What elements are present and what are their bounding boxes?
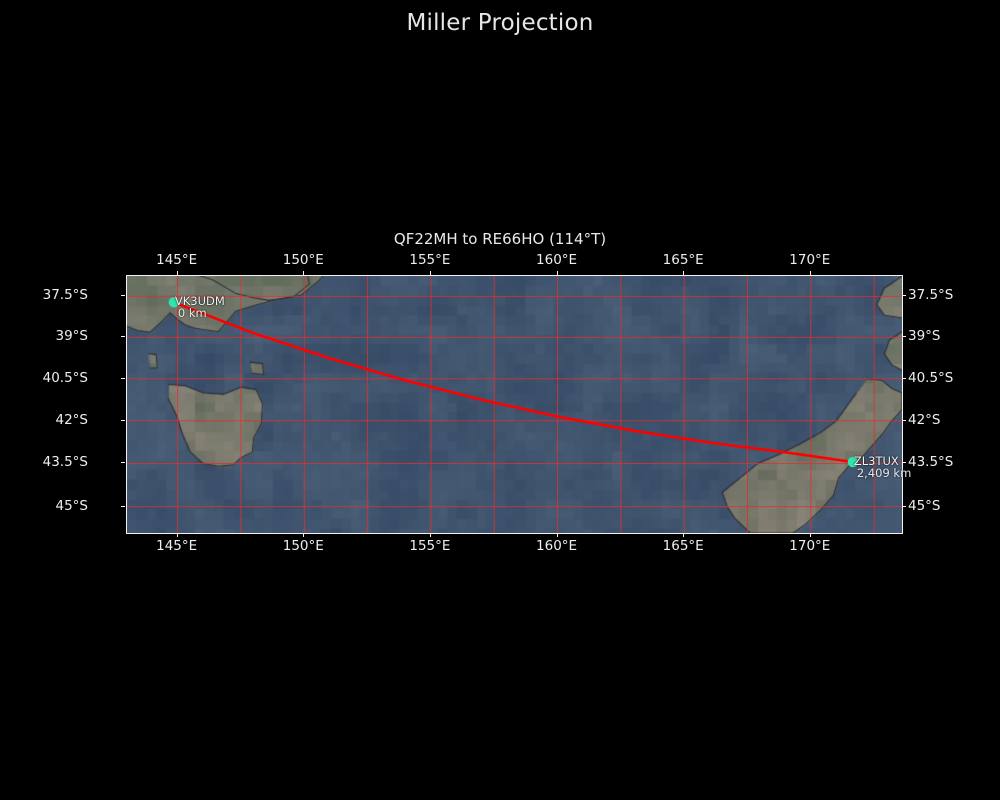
x-tick-mark-bottom [430, 533, 431, 537]
y-tick-label-left: 45°S [56, 498, 89, 514]
y-tick-mark-right [902, 506, 906, 507]
x-tick-mark-top [557, 271, 558, 275]
y-tick-label-right: 45°S [908, 498, 941, 514]
map-vector-overlay [127, 276, 902, 533]
y-tick-label-right: 37.5°S [908, 287, 953, 303]
x-tick-label-bottom: 165°E [663, 538, 704, 554]
x-tick-mark-bottom [810, 533, 811, 537]
x-tick-label-top: 165°E [663, 252, 704, 268]
x-tick-mark-bottom [557, 533, 558, 537]
y-tick-label-left: 37.5°S [43, 287, 88, 303]
x-tick-mark-top [177, 271, 178, 275]
x-tick-label-bottom: 160°E [536, 538, 577, 554]
x-tick-label-top: 155°E [409, 252, 450, 268]
x-tick-label-top: 145°E [156, 252, 197, 268]
x-tick-label-top: 150°E [283, 252, 324, 268]
y-tick-label-left: 42°S [56, 412, 89, 428]
station-distance-vk3udm: 0 km [178, 307, 207, 320]
y-tick-mark-left [121, 378, 125, 379]
y-tick-label-right: 42°S [908, 412, 941, 428]
y-tick-mark-left [121, 336, 125, 337]
x-tick-mark-bottom [303, 533, 304, 537]
x-tick-label-bottom: 155°E [409, 538, 450, 554]
y-tick-mark-right [902, 420, 906, 421]
graticule-lines [127, 276, 902, 533]
y-tick-mark-left [121, 462, 125, 463]
x-tick-mark-top [810, 271, 811, 275]
figure-canvas: Miller Projection QF22MH to RE66HO (114°… [0, 0, 1000, 800]
x-tick-label-bottom: 150°E [283, 538, 324, 554]
y-tick-label-left: 43.5°S [43, 454, 88, 470]
x-tick-mark-top [683, 271, 684, 275]
y-tick-mark-right [902, 295, 906, 296]
y-tick-mark-right [902, 378, 906, 379]
x-tick-mark-bottom [177, 533, 178, 537]
x-tick-label-bottom: 145°E [156, 538, 197, 554]
axes-title: QF22MH to RE66HO (114°T) [0, 230, 1000, 248]
y-tick-label-left: 40.5°S [43, 370, 88, 386]
y-tick-label-right: 43.5°S [908, 454, 953, 470]
x-tick-mark-top [430, 271, 431, 275]
y-tick-mark-left [121, 420, 125, 421]
y-tick-label-left: 39°S [56, 328, 89, 344]
y-tick-mark-right [902, 336, 906, 337]
map-plot-area[interactable] [126, 275, 903, 534]
x-tick-label-bottom: 170°E [789, 538, 830, 554]
y-tick-mark-left [121, 506, 125, 507]
x-tick-mark-bottom [683, 533, 684, 537]
y-tick-label-right: 39°S [908, 328, 941, 344]
x-tick-label-top: 170°E [789, 252, 830, 268]
figure-title: Miller Projection [0, 10, 1000, 36]
x-tick-mark-top [303, 271, 304, 275]
y-tick-label-right: 40.5°S [908, 370, 953, 386]
y-tick-mark-right [902, 462, 906, 463]
great-circle-path [174, 302, 853, 462]
y-tick-mark-left [121, 295, 125, 296]
x-tick-label-top: 160°E [536, 252, 577, 268]
station-distance-zl3tux: 2,409 km [857, 467, 911, 480]
